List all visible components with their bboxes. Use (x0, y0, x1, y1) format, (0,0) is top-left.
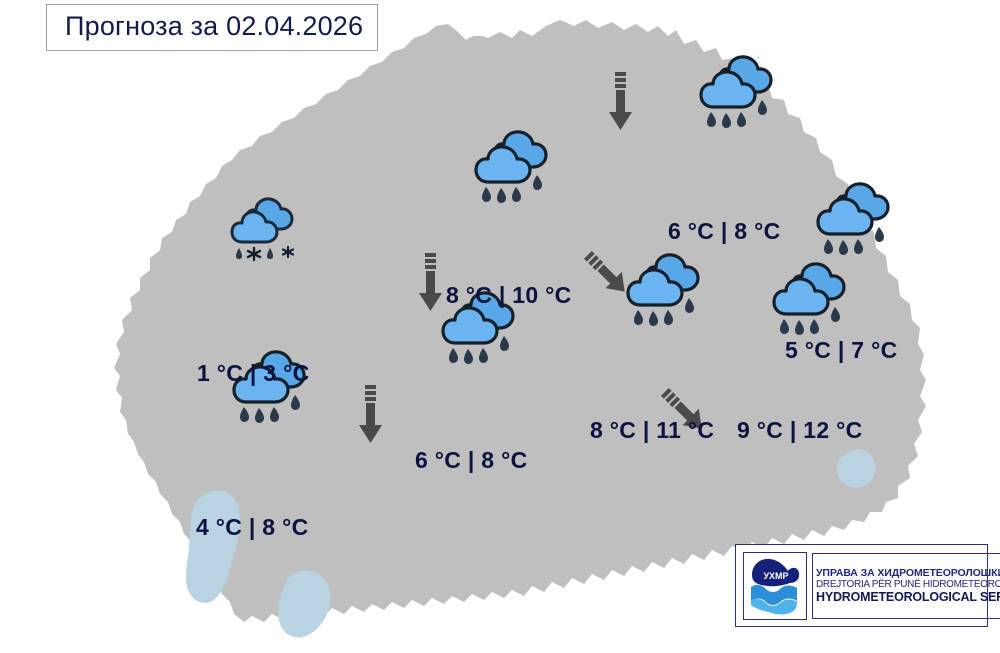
agency-logo: УХМР УПРАВА ЗА ХИДРОМЕТЕОРОЛОШКИ РАБОТИ … (735, 544, 988, 627)
temp-label-southwest: 4 °C | 8 °C (196, 514, 309, 541)
rain-cloud-icon-east-upper (812, 182, 898, 260)
temp-label-west: 1 °C | 3 °C (197, 360, 310, 387)
temp-label-northeast: 6 °C | 8 °C (668, 218, 781, 245)
weather-forecast-map: Прогноза за 02.04.2026 (0, 0, 1000, 653)
temp-label-east: 5 °C | 7 °C (785, 337, 898, 364)
temp-label-southcentral: 6 °C | 8 °C (415, 447, 528, 474)
rain-cloud-icon-northeast (695, 55, 781, 133)
logo-text-block: УПРАВА ЗА ХИДРОМЕТЕОРОЛОШКИ РАБОТИ DREJT… (812, 553, 1000, 619)
page-title: Прогноза за 02.04.2026 (65, 11, 363, 42)
logo-line-sq: DREJTORIA PËR PUNË HIDROMETEOROLOGJIKE (816, 579, 1000, 590)
temp-label-central: 8 °C | 10 °C (446, 282, 572, 309)
logo-line-mk: УПРАВА ЗА ХИДРОМЕТЕОРОЛОШКИ РАБОТИ (816, 567, 1000, 579)
logo-mark-icon: УХМР (743, 552, 807, 620)
sleet-cloud-icon-northwest (226, 196, 306, 272)
rain-cloud-icon-east-mid (768, 262, 854, 340)
logo-mark-text: УХМР (763, 571, 788, 581)
wind-arrow-central-down (410, 253, 450, 315)
wind-arrow-southwest-down (350, 385, 390, 447)
logo-line-en: HYDROMETEOROLOGICAL SERVICE (816, 590, 1000, 604)
wind-arrow-center-down-right (578, 245, 636, 303)
temp-label-southeast-a: 8 °C | 11 °C (590, 417, 714, 444)
temp-label-southeast-b: 9 °C | 12 °C (737, 417, 863, 444)
wind-arrow-north-down (600, 72, 640, 134)
forecast-title-box: Прогноза за 02.04.2026 (46, 4, 378, 51)
rain-cloud-icon-north (470, 130, 556, 208)
